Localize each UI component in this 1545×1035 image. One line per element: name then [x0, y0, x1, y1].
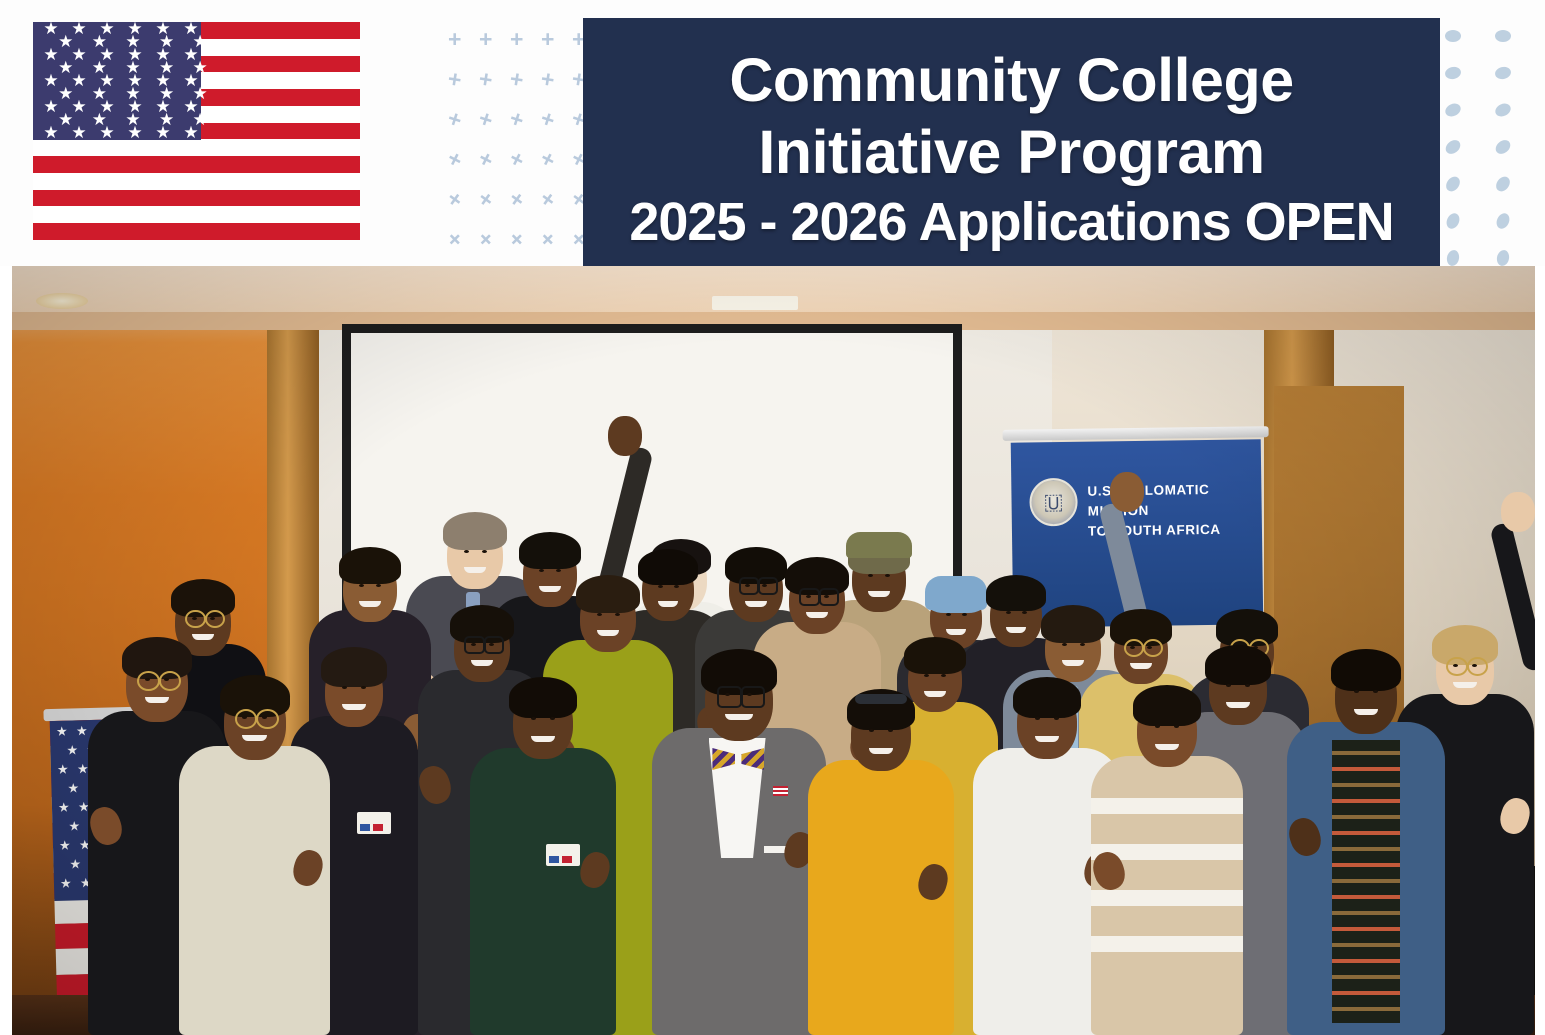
- cross-mark-icon: +: [448, 28, 461, 51]
- flag-stripe: [33, 173, 360, 190]
- person-smile: [725, 714, 752, 720]
- eyeglasses-icon: [1467, 657, 1488, 676]
- dot-mark-icon: [1495, 30, 1511, 42]
- hanging-flag-star-icon: ★: [60, 877, 72, 890]
- cross-mark-icon: +: [475, 146, 497, 173]
- flag-star-icon: ★: [71, 124, 86, 141]
- hanging-flag-star-icon: ★: [68, 819, 80, 832]
- eyeglasses-icon: [741, 686, 765, 708]
- raised-hand: [1501, 492, 1535, 532]
- person-eye: [1174, 725, 1179, 728]
- person-eye: [1054, 717, 1059, 720]
- person: [802, 266, 960, 1035]
- person-eye: [888, 729, 893, 732]
- person-torso: [470, 748, 615, 1035]
- cross-mark-icon: +: [506, 146, 528, 173]
- program-title-line-1: Community College: [729, 44, 1293, 116]
- cross-mark-icon: +: [473, 227, 499, 253]
- cross-mark-icon: +: [504, 227, 530, 253]
- cross-mark-icon: +: [510, 28, 523, 51]
- cross-mark-icon: +: [537, 146, 559, 173]
- flag-stripe: [33, 190, 360, 207]
- person-hair: [220, 675, 290, 717]
- flag-stripe: [33, 223, 360, 240]
- dot-mark-icon: [1493, 137, 1513, 156]
- person-smile: [342, 704, 365, 710]
- cross-mark-icon: +: [442, 227, 468, 253]
- person-hair: [509, 677, 577, 718]
- hanging-flag-star-icon: ★: [58, 801, 70, 814]
- cross-mark-icon: +: [541, 28, 554, 51]
- person-smile: [531, 736, 555, 742]
- us-flag-lapel-pin: [773, 786, 788, 796]
- person: [1084, 266, 1250, 1035]
- flag-star-icon: ★: [127, 124, 142, 141]
- dot-mark-icon: [1493, 101, 1513, 119]
- cross-mark-icon: +: [476, 106, 496, 132]
- cross-mark-icon: +: [535, 227, 561, 253]
- hanging-flag-star-icon: ★: [56, 725, 68, 738]
- name-badge: [357, 812, 391, 834]
- cross-mark-icon: +: [479, 28, 492, 51]
- dot-mark-icon: [1443, 174, 1462, 194]
- person: [1280, 266, 1452, 1035]
- cross-mark-icon: +: [539, 67, 556, 92]
- sweater-stripe: [1091, 936, 1244, 952]
- eyeglasses-icon: [256, 709, 279, 729]
- eyeglasses-icon: [717, 686, 741, 708]
- flag-stripe: [33, 156, 360, 173]
- person-hair: [1133, 685, 1201, 726]
- person-smile: [242, 735, 267, 741]
- dot-mark-icon: [1443, 101, 1463, 119]
- person-eye: [1035, 717, 1040, 720]
- group-photo: ★★★★★★★★★★★★★★★★★★★★★★★★★★★★★★★★★★★★★★★★…: [12, 266, 1535, 1035]
- person-smile: [869, 748, 893, 754]
- cross-mark-icon: +: [444, 146, 466, 173]
- person-eye: [1354, 690, 1359, 693]
- dot-mark-icon: [1443, 137, 1463, 156]
- cross-mark-icon: +: [443, 186, 467, 213]
- bowtie: [712, 748, 764, 770]
- cross-mark-icon: +: [508, 67, 525, 92]
- flag-canton: ★★★★★★★★★★★★★★★★★★★★★★★★★★★★★★★★★★★★★★★★…: [33, 22, 201, 140]
- hanging-flag-star-icon: ★: [67, 781, 79, 794]
- dot-mark-icon: [1494, 65, 1512, 80]
- person: [172, 266, 337, 1035]
- person-smile: [1155, 744, 1179, 750]
- person-eye: [361, 686, 366, 689]
- dot-mark-icon: [1445, 249, 1460, 266]
- dot-mark-icon: [1495, 249, 1510, 266]
- cross-mark-icon: +: [536, 186, 560, 213]
- cross-mark-icon: +: [445, 106, 465, 132]
- plaid-shirt: [1332, 740, 1401, 1023]
- person-hair: [1331, 649, 1401, 691]
- person-eye: [531, 717, 536, 720]
- sunglasses-on-head-icon: [855, 694, 907, 704]
- poster: ★★★★★★★★★★★★★★★★★★★★★★★★★★★★★★★★★★★★★★★★…: [0, 0, 1545, 1035]
- person-smile: [1035, 736, 1059, 742]
- hanging-flag-star-icon: ★: [66, 743, 78, 756]
- person-eye: [342, 686, 347, 689]
- person-hair: [1013, 677, 1081, 718]
- dot-mark-icon: [1445, 30, 1461, 42]
- flag-star-row: ★★★★★★: [33, 126, 209, 139]
- cross-mark-icon: +: [446, 67, 463, 92]
- cross-mark-icon: +: [477, 67, 494, 92]
- eyeglasses-icon: [137, 671, 160, 691]
- cross-mark-icon: +: [505, 186, 529, 213]
- sweater-stripe: [1091, 890, 1244, 906]
- dot-mark-icon: [1493, 174, 1512, 194]
- hanging-flag-star-icon: ★: [57, 763, 69, 776]
- dot-pattern-decoration: [1447, 28, 1545, 266]
- person-torso: [179, 746, 331, 1035]
- flag-stripe: [33, 206, 360, 223]
- person-eye: [869, 729, 874, 732]
- cross-mark-icon: +: [474, 186, 498, 213]
- dot-mark-icon: [1444, 211, 1462, 231]
- recessed-light-1: [36, 293, 88, 309]
- dot-mark-icon: [1444, 65, 1462, 80]
- hanging-flag-star-icon: ★: [69, 857, 81, 870]
- name-badge: [546, 844, 580, 866]
- person-eye: [550, 717, 555, 720]
- flag-star-icon: ★: [43, 124, 58, 141]
- person-smile: [1453, 682, 1476, 688]
- cross-mark-icon: +: [538, 106, 558, 132]
- eyeglasses-icon: [235, 709, 258, 729]
- person: [464, 266, 622, 1035]
- hanging-flag-star-icon: ★: [59, 839, 71, 852]
- program-title-line-2: Initiative Program: [758, 116, 1264, 188]
- application-period-text: 2025 - 2026 Applications OPEN: [629, 190, 1393, 254]
- sweater-stripe: [1091, 798, 1244, 814]
- flag-star-icon: ★: [155, 124, 170, 141]
- dot-mark-icon: [1494, 211, 1512, 231]
- flag-star-icon: ★: [99, 124, 114, 141]
- flag-star-icon: ★: [183, 124, 198, 141]
- us-flag-graphic: ★★★★★★★★★★★★★★★★★★★★★★★★★★★★★★★★★★★★★★★★…: [33, 22, 360, 240]
- cross-pattern-decoration: ++++++++++++++++++++++++++++++: [448, 28, 578, 266]
- cross-mark-icon: +: [507, 106, 527, 132]
- person-eye: [1155, 725, 1160, 728]
